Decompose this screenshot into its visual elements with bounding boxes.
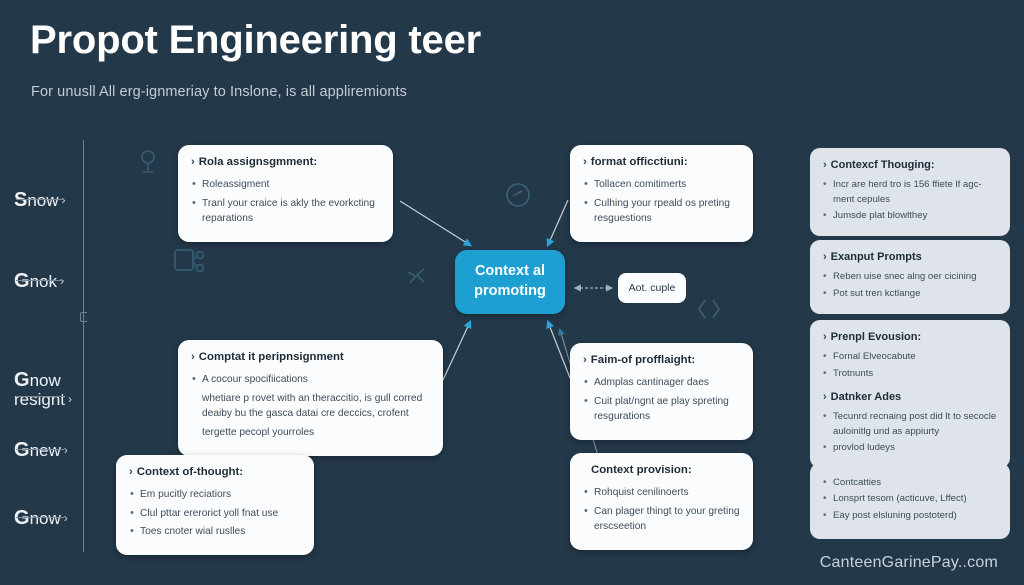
sidebar-rail-notch <box>80 312 87 322</box>
list-item: Contcatties <box>823 476 997 490</box>
list-item: Rohquist cenilinoerts <box>583 485 740 501</box>
side-pill[interactable]: Aot. cuple <box>618 273 686 303</box>
card-role-assignment-title: ›Rola assignsgmment: <box>191 156 380 170</box>
chevron-right-icon: › <box>823 251 827 263</box>
sidebar-item-3[interactable]: Gnew› <box>14 422 68 461</box>
side-pill-label: Aot. cuple <box>629 282 676 294</box>
panel-context-notes[interactable]: Contcatties Lonsprt tesom (acticuve, Lff… <box>810 463 1010 539</box>
list-item: Tecunrd recnaing post did lt to secocle … <box>823 410 997 439</box>
sidebar-item-4-cap: G <box>14 507 30 529</box>
chevron-right-icon: › <box>191 351 195 363</box>
chevron-right-icon: › <box>129 466 133 478</box>
list-item: Em pucitly reciatiors <box>129 487 301 503</box>
panel-example-prompts[interactable]: ›Exanput Prompts Reben uise snec alng oe… <box>810 240 1010 314</box>
chevron-right-icon: › <box>191 156 195 168</box>
sidebar-rail <box>83 140 84 552</box>
list-item: tergette pecopl yourroles <box>191 425 430 441</box>
list-item: Can plager thingt to your greting erscse… <box>583 504 740 536</box>
list-item: Culhing your rpeald os preting resguesti… <box>583 196 740 228</box>
center-node-line2: promoting <box>474 282 546 302</box>
center-node-line1: Context al <box>475 262 545 282</box>
sidebar-item-1-label: nok <box>30 272 57 291</box>
sidebar-item-0-label: now <box>27 191 58 210</box>
panel-prompt-evaluation[interactable]: ›Prenpl Evousion: Fornal Elveocabute Tro… <box>810 320 1010 468</box>
card-role-assignment[interactable]: ›Rola assignsgmment: Roleassigment Tranl… <box>178 145 393 242</box>
sidebar-item-4-label: now <box>30 509 61 528</box>
branch-icon <box>404 263 430 289</box>
card-component-assignment[interactable]: ›Comptat it peripnsignment A cocour spoc… <box>178 340 443 456</box>
card-format-instruction[interactable]: ›format officctiuni: Tollacen comitimert… <box>570 145 753 242</box>
card-component-assignment-list: A cocour spocifiications whetiare p rove… <box>191 372 430 441</box>
center-node[interactable]: Context al promoting <box>455 250 565 314</box>
page-title: Propot Engineering teer <box>30 18 481 63</box>
chevron-right-icon: › <box>823 159 827 171</box>
panel-prompt-evaluation-list: Fornal Elveocabute Trotnunts <box>823 350 997 381</box>
panel-datnker-ades-title: ›Datnker Ades <box>823 391 997 404</box>
sidebar-item-1-cap: G <box>14 270 30 292</box>
panel-example-prompts-list: Reben uise snec alng oer cicining Pot su… <box>823 270 997 301</box>
panel-context-thoughing-list: Incr are herd tro is 156 ffiete lf agc-m… <box>823 178 997 223</box>
list-item: Pot sut tren kctlange <box>823 287 997 301</box>
card-few-of-profflaight[interactable]: ›Faim-of profflaight: Admplas cantinager… <box>570 343 753 440</box>
chevron-right-icon: › <box>64 511 68 525</box>
list-item: Fornal Elveocabute <box>823 350 997 364</box>
chevron-right-icon: › <box>583 156 587 168</box>
list-item: Roleassigment <box>191 177 380 193</box>
card-context-provision[interactable]: Context provision: Rohquist cenilinoerts… <box>570 453 753 550</box>
card-few-of-profflaight-title: ›Faim-of profflaight: <box>583 354 740 368</box>
list-item: Toes cnoter wial ruslles <box>129 524 301 540</box>
panel-example-prompts-title: ›Exanput Prompts <box>823 251 997 264</box>
sidebar-item-2[interactable]: Gnow resignt› <box>14 352 72 409</box>
list-item: Reben uise snec alng oer cicining <box>823 270 997 284</box>
sidebar-item-0-underline <box>16 199 64 200</box>
node-network-icon <box>136 148 160 174</box>
panel-prompt-evaluation-title: ›Prenpl Evousion: <box>823 331 997 344</box>
chevron-right-icon: › <box>64 443 68 457</box>
chevron-right-icon: › <box>583 354 587 366</box>
card-role-assignment-list: Roleassigment Tranl your craice is akly … <box>191 177 380 227</box>
chevron-right-icon: › <box>60 274 64 288</box>
diagram-canvas: Propot Engineering teer For unusll All e… <box>0 0 1024 585</box>
panel-context-thoughing[interactable]: ›Contexcf Thouging: Incr are herd tro is… <box>810 148 1010 236</box>
list-item: Incr are herd tro is 156 ffiete lf agc-m… <box>823 178 997 207</box>
list-item: A cocour spocifiications <box>191 372 430 388</box>
check-circle-icon <box>505 182 531 208</box>
card-context-of-thought-list: Em pucitly reciatiors Clul pttar ererori… <box>129 487 301 540</box>
footer-watermark: CanteenGarinePay..com <box>820 554 998 572</box>
card-few-of-profflaight-list: Admplas cantinager daes Cuit plat/ngnt a… <box>583 375 740 425</box>
panel-context-notes-list: Contcatties Lonsprt tesom (acticuve, Lff… <box>823 476 997 523</box>
list-item: Admplas cantinager daes <box>583 375 740 391</box>
list-item: Trotnunts <box>823 367 997 381</box>
page-subtitle: For unusll All erg-ignmeriay to Inslone,… <box>31 84 407 100</box>
sidebar-item-0[interactable]: Snow› <box>14 172 66 211</box>
sidebar-item-4[interactable]: Gnow› <box>14 490 68 529</box>
card-format-instruction-list: Tollacen comitimerts Culhing your rpeald… <box>583 177 740 227</box>
card-context-provision-list: Rohquist cenilinoerts Can plager thingt … <box>583 485 740 535</box>
panel-datnker-ades-list: Tecunrd recnaing post did lt to secocle … <box>823 410 997 455</box>
list-item: Clul pttar ererorict yoll fnat use <box>129 506 301 522</box>
chevron-right-icon: › <box>823 391 827 403</box>
sidebar-item-2-cap: G <box>14 369 30 391</box>
sidebar-item-1[interactable]: Gnok› <box>14 253 64 292</box>
list-item: Cuit plat/ngnt ae play spreting resgurat… <box>583 394 740 426</box>
sidebar-item-2-underline <box>16 396 64 397</box>
share-node-icon <box>174 246 208 278</box>
chevron-right-icon: › <box>62 193 66 207</box>
list-item: Tranl your craice is akly the evorkcting… <box>191 196 380 228</box>
list-item: Jumsde plat blowlthey <box>823 209 997 223</box>
list-item: whetiare p rovet with an theraccitio, is… <box>191 391 430 423</box>
chevron-right-icon: › <box>68 392 72 406</box>
card-component-assignment-title: ›Comptat it peripnsignment <box>191 351 430 365</box>
chevron-right-icon: › <box>823 331 827 343</box>
panel-context-thoughing-title: ›Contexcf Thouging: <box>823 159 997 172</box>
sidebar-item-3-label: new <box>30 441 61 460</box>
sidebar-item-4-underline <box>16 517 64 518</box>
sidebar-item-3-underline <box>16 449 64 450</box>
card-context-of-thought[interactable]: ›Context of-thought: Em pucitly reciatio… <box>116 455 314 555</box>
sidebar-item-0-cap: S <box>14 189 27 211</box>
card-context-provision-title: Context provision: <box>583 464 740 478</box>
list-item: provlod ludeys <box>823 441 997 455</box>
card-context-of-thought-title: ›Context of-thought: <box>129 466 301 480</box>
code-brackets-icon <box>697 296 721 322</box>
card-format-instruction-title: ›format officctiuni: <box>583 156 740 170</box>
list-item: Lonsprt tesom (acticuve, Lffect) <box>823 492 997 506</box>
sidebar-item-3-cap: G <box>14 439 30 461</box>
list-item: Eay post elsluning postoterd) <box>823 509 997 523</box>
sidebar-item-1-underline <box>16 280 64 281</box>
list-item: Tollacen comitimerts <box>583 177 740 193</box>
